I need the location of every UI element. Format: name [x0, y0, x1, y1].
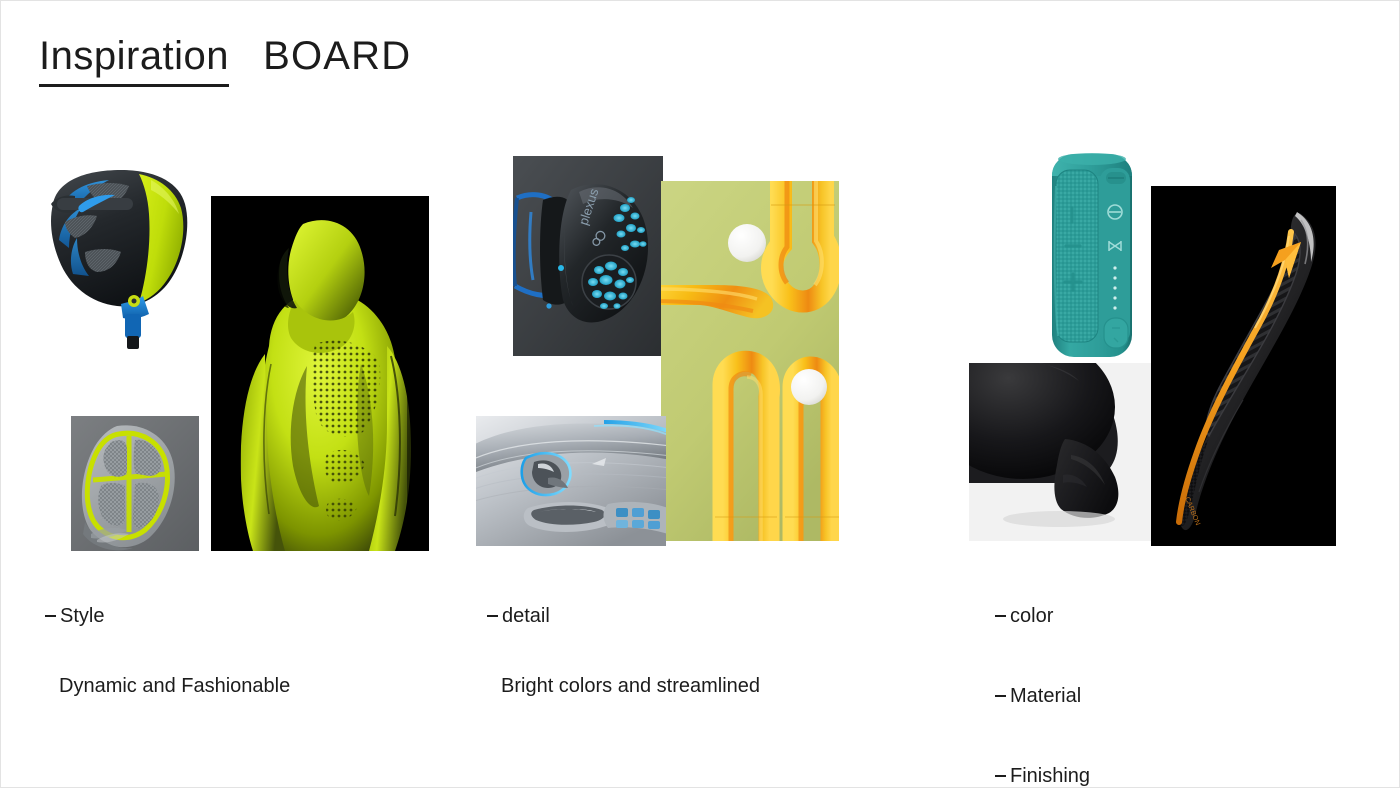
- caption-label-color: color: [995, 606, 1400, 626]
- athlete-bodysuit-image: [211, 196, 429, 551]
- caption-label-material-text: Material: [1010, 686, 1081, 706]
- caption-group-color: color Material Finishing: [995, 606, 1400, 786]
- column-color: CARBON: [961, 141, 1351, 561]
- caption-label-finishing-text: Finishing: [1010, 766, 1090, 786]
- title-main-text: Inspiration: [39, 35, 229, 87]
- column-style-media: [39, 141, 429, 561]
- yellow-tubes-image: [661, 181, 839, 541]
- caption-description-style: Dynamic and Fashionable: [59, 676, 465, 696]
- column-color-media: CARBON: [961, 141, 1351, 561]
- plexus-mask-image: plexus: [513, 156, 663, 356]
- caption-label-color-text: color: [1010, 606, 1053, 626]
- column-style: [39, 141, 429, 561]
- caption-description-detail: Bright colors and streamlined: [501, 676, 907, 696]
- shoe-sole-image: [71, 416, 199, 551]
- caption-label-material: Material: [995, 686, 1400, 706]
- caption-label-detail: detail: [487, 606, 907, 626]
- caption-label-style-text: Style: [60, 606, 104, 626]
- dash-marker-icon: [995, 615, 1006, 618]
- car-interior-image: [476, 416, 666, 546]
- teal-speaker-image: [1046, 146, 1138, 361]
- dash-marker-icon: [995, 775, 1006, 778]
- dash-marker-icon: [995, 695, 1006, 698]
- dash-marker-icon: [487, 615, 498, 618]
- black-dome-image: [969, 363, 1151, 541]
- column-detail: plexus: [481, 141, 861, 561]
- caption-group-detail: detail Bright colors and streamlined: [487, 606, 907, 696]
- title-sub-text: BOARD: [263, 35, 411, 77]
- golf-driver-image: [39, 156, 204, 351]
- inspiration-board-slide: Inspiration BOARD: [0, 0, 1400, 788]
- caption-group-style: Style Dynamic and Fashionable: [45, 606, 465, 696]
- caption-label-style: Style: [45, 606, 465, 626]
- caption-label-detail-text: detail: [502, 606, 550, 626]
- page-title: Inspiration BOARD: [39, 35, 411, 87]
- column-detail-media: plexus: [481, 141, 861, 561]
- caption-label-finishing: Finishing: [995, 766, 1400, 786]
- carbon-blade-image: CARBON: [1151, 186, 1336, 546]
- dash-marker-icon: [45, 615, 56, 618]
